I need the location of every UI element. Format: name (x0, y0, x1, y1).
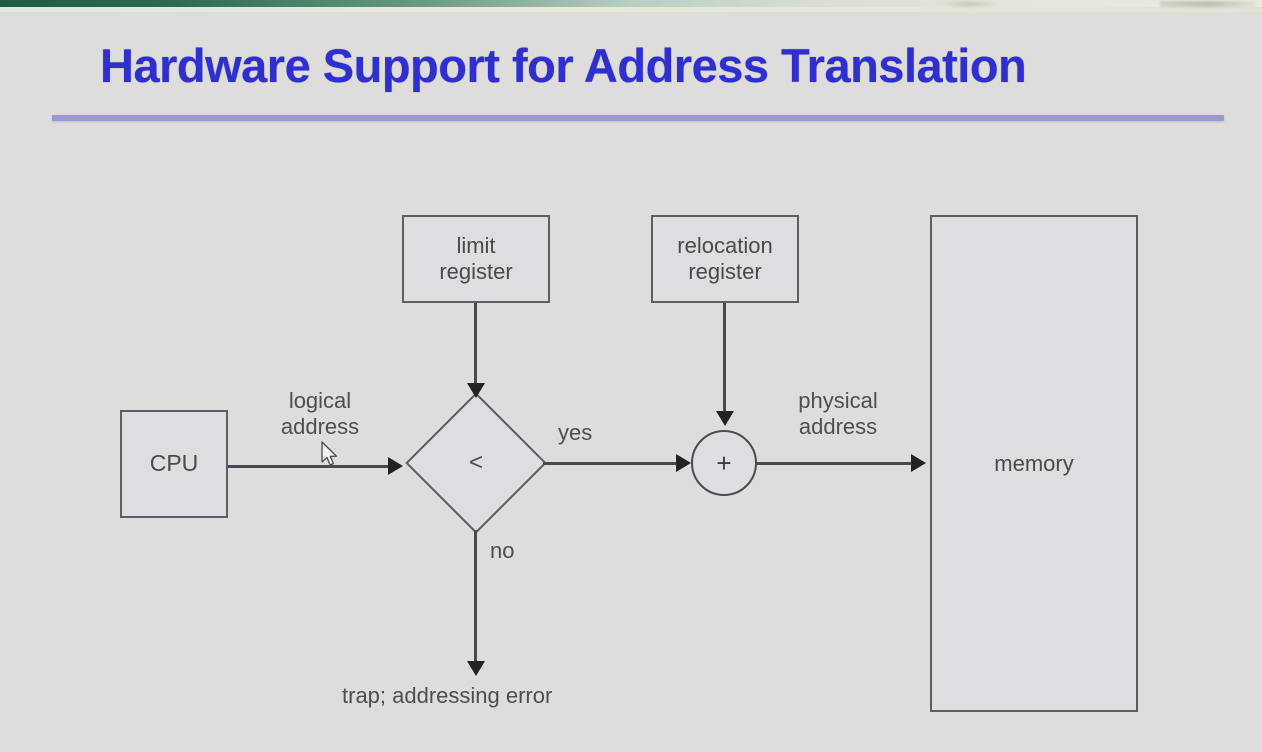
edge-limit-to-compare-arrowhead (467, 383, 485, 398)
edge-cpu-to-compare-arrowhead (388, 457, 403, 475)
top-right-artifact (1160, 1, 1256, 7)
limit-register-box: limit register (402, 215, 550, 303)
cpu-label: CPU (150, 450, 199, 477)
memory-box: memory (930, 215, 1138, 712)
logical-address-label: logical address (250, 388, 390, 441)
relocation-register-box: relocation register (651, 215, 799, 303)
limit-register-label-line2: register (439, 259, 512, 285)
adder-circle: + (691, 430, 757, 496)
yes-branch-label: yes (558, 420, 592, 446)
edge-cpu-to-compare-line (228, 465, 393, 468)
edge-adder-to-memory-line (757, 462, 917, 465)
edge-compare-yes-to-adder-arrowhead (676, 454, 691, 472)
memory-label: memory (994, 451, 1073, 477)
title-underline-rule (52, 115, 1224, 121)
cpu-box: CPU (120, 410, 228, 518)
physical-address-label-line2: address (768, 414, 908, 440)
physical-address-label-line1: physical (768, 388, 908, 414)
edge-compare-no-to-trap-line (474, 530, 477, 663)
physical-address-label: physical address (768, 388, 908, 441)
no-branch-label: no (490, 538, 514, 564)
slide-canvas: Hardware Support for Address Translation… (0, 0, 1262, 752)
relocation-register-label-line1: relocation (677, 233, 772, 259)
limit-register-label-line1: limit (456, 233, 495, 259)
logical-address-label-line2: address (250, 414, 390, 440)
top-green-accent-bar (0, 0, 1262, 7)
edge-adder-to-memory-arrowhead (911, 454, 926, 472)
edge-compare-no-to-trap-arrowhead (467, 661, 485, 676)
edge-relocation-to-adder-arrowhead (716, 411, 734, 426)
edge-limit-to-compare-line (474, 303, 477, 385)
logical-address-label-line1: logical (250, 388, 390, 414)
top-mid-artifact (940, 0, 1000, 8)
edge-compare-yes-to-adder-line (543, 462, 682, 465)
relocation-register-label-line2: register (688, 259, 761, 285)
compare-decision-diamond: < (409, 396, 543, 530)
edge-relocation-to-adder-line (723, 303, 726, 413)
compare-label: < (409, 396, 543, 530)
page-title: Hardware Support for Address Translation (100, 38, 1026, 93)
adder-label: + (716, 448, 731, 479)
trap-error-label: trap; addressing error (342, 683, 552, 709)
top-faint-strip (0, 7, 1262, 12)
arrow-pointer-icon (320, 441, 338, 467)
